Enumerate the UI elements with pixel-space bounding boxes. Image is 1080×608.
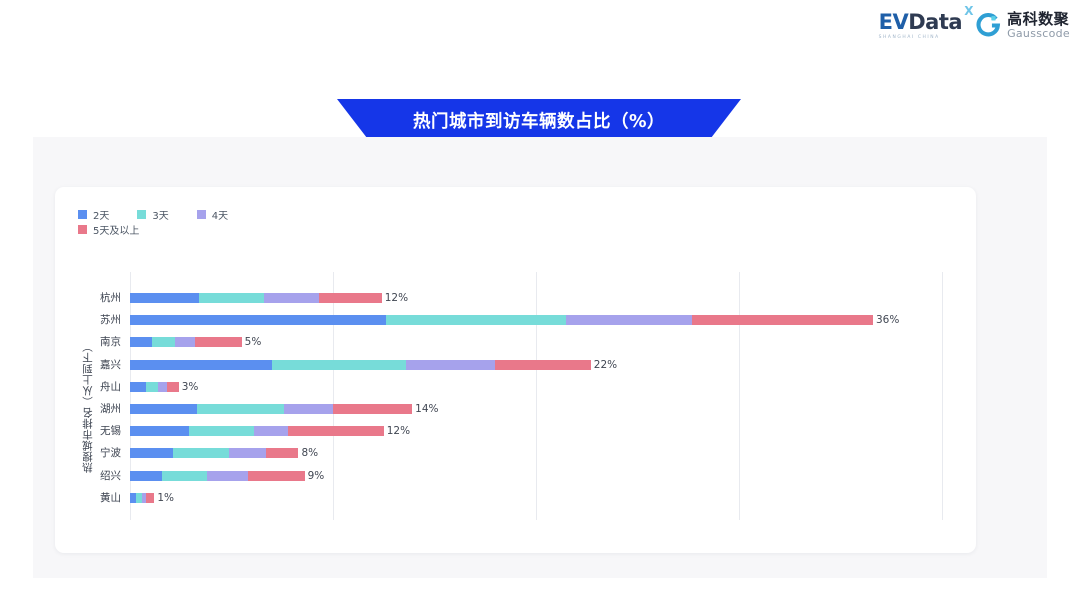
category-label: 无锡 (100, 420, 121, 442)
evdata-ev-text: EV (879, 10, 909, 34)
bar-segment-4[interactable] (333, 404, 412, 414)
bar-segment-4[interactable] (146, 493, 154, 503)
bar-segment-1[interactable] (130, 315, 386, 325)
bar-segment-2[interactable] (152, 337, 174, 347)
gausscode-text: 高科数聚 Gausscode (1007, 12, 1070, 39)
bar-segment-3[interactable] (284, 404, 333, 414)
bar-segment-4[interactable] (195, 337, 242, 347)
bar-segment-4[interactable] (319, 293, 382, 303)
bar-segment-1[interactable] (130, 448, 173, 458)
stacked-bar[interactable] (130, 315, 873, 325)
stacked-bar[interactable] (130, 448, 298, 458)
bar-segment-1[interactable] (130, 426, 189, 436)
chart-row: 宁波8% (130, 442, 942, 464)
legend-swatch-icon (78, 225, 87, 234)
evdata-logo: EVData X shanghai china (879, 12, 962, 40)
stacked-bar[interactable] (130, 293, 382, 303)
bar-segment-1[interactable] (130, 360, 272, 370)
category-label: 杭州 (100, 287, 121, 309)
legend-swatch-icon (137, 210, 146, 219)
category-label: 绍兴 (100, 465, 121, 487)
category-label: 宁波 (100, 442, 121, 464)
stacked-bar[interactable] (130, 337, 242, 347)
legend-label: 4天 (212, 207, 228, 222)
bar-segment-1[interactable] (130, 404, 197, 414)
bar-segment-4[interactable] (692, 315, 873, 325)
chart-row: 湖州14% (130, 398, 942, 420)
bar-segment-2[interactable] (146, 382, 158, 392)
bar-segment-1[interactable] (130, 293, 199, 303)
gridline (942, 272, 943, 520)
category-label: 舟山 (100, 376, 121, 398)
category-label: 南京 (100, 331, 121, 353)
category-label: 嘉兴 (100, 354, 121, 376)
y-axis-title: 热搜城市排名（从上到下） (79, 317, 95, 497)
evdata-x-superscript-icon: X (964, 5, 973, 17)
bar-segment-4[interactable] (495, 360, 590, 370)
bar-segment-3[interactable] (207, 471, 248, 481)
bar-segment-3[interactable] (175, 337, 195, 347)
bar-value-label: 14% (412, 398, 438, 420)
chart-row: 嘉兴22% (130, 354, 942, 376)
y-axis-title-text: 热搜城市排名（从上到下） (80, 341, 95, 473)
legend-label: 2天 (93, 207, 109, 222)
title-ribbon: 热门城市到访车辆数占比（%） (337, 99, 741, 141)
gausscode-en-name: Gausscode (1007, 28, 1070, 40)
bar-value-label: 9% (305, 465, 325, 487)
stacked-bar[interactable] (130, 493, 154, 503)
bar-value-label: 12% (382, 287, 408, 309)
legend-item-4[interactable]: 5天及以上 (78, 222, 139, 237)
legend-item-3[interactable]: 4天 (197, 207, 228, 222)
legend-item-2[interactable]: 3天 (137, 207, 168, 222)
bar-segment-4[interactable] (167, 382, 179, 392)
gausscode-cn-name: 高科数聚 (1007, 12, 1070, 28)
bar-segment-1[interactable] (130, 471, 162, 481)
bar-value-label: 12% (384, 420, 410, 442)
bar-segment-3[interactable] (566, 315, 692, 325)
legend-label: 3天 (152, 207, 168, 222)
bar-segment-3[interactable] (254, 426, 289, 436)
bar-segment-3[interactable] (158, 382, 166, 392)
legend-item-1[interactable]: 2天 (78, 207, 109, 222)
bar-value-label: 5% (242, 331, 262, 353)
bar-segment-2[interactable] (162, 471, 207, 481)
evdata-tagline: shanghai china (879, 35, 940, 40)
bar-segment-2[interactable] (173, 448, 230, 458)
bar-value-label: 3% (179, 376, 199, 398)
stacked-bar[interactable] (130, 404, 412, 414)
bar-segment-4[interactable] (248, 471, 305, 481)
bar-segment-4[interactable] (266, 448, 298, 458)
bar-segment-1[interactable] (130, 382, 146, 392)
bar-segment-3[interactable] (406, 360, 495, 370)
stacked-bar[interactable] (130, 382, 179, 392)
bar-segment-3[interactable] (229, 448, 266, 458)
bar-segment-2[interactable] (199, 293, 264, 303)
chart-legend: 2天3天4天5天及以上 (78, 207, 378, 237)
category-label: 苏州 (100, 309, 121, 331)
bar-segment-2[interactable] (272, 360, 406, 370)
plot-area: 杭州12%苏州36%南京5%嘉兴22%舟山3%湖州14%无锡12%宁波8%绍兴9… (130, 287, 942, 510)
title-ribbon-shape: 热门城市到访车辆数占比（%） (337, 99, 741, 141)
chart-row: 苏州36% (130, 309, 942, 331)
chart-row: 杭州12% (130, 287, 942, 309)
legend-swatch-icon (78, 210, 87, 219)
stacked-bar[interactable] (130, 360, 591, 370)
gausscode-g-mark-icon (976, 13, 1001, 38)
gausscode-logo: 高科数聚 Gausscode (976, 12, 1070, 39)
bar-value-label: 1% (154, 487, 174, 509)
category-label: 黄山 (100, 487, 121, 509)
stacked-bar[interactable] (130, 426, 384, 436)
slide-page: EVData X shanghai china 高科数聚 Gausscode 热… (0, 0, 1080, 608)
bar-segment-2[interactable] (386, 315, 567, 325)
chart-row: 南京5% (130, 331, 942, 353)
chart-row: 黄山1% (130, 487, 942, 509)
bar-value-label: 8% (298, 442, 318, 464)
legend-swatch-icon (197, 210, 206, 219)
evdata-wordmark: EVData X (879, 12, 962, 33)
chart-row: 无锡12% (130, 420, 942, 442)
stacked-bar[interactable] (130, 471, 305, 481)
category-label: 湖州 (100, 398, 121, 420)
bar-segment-1[interactable] (130, 337, 152, 347)
chart-row: 绍兴9% (130, 465, 942, 487)
bar-segment-2[interactable] (197, 404, 284, 414)
legend-label: 5天及以上 (93, 222, 139, 237)
chart-card: 2天3天4天5天及以上 热搜城市排名（从上到下） 杭州12%苏州36%南京5%嘉… (55, 187, 976, 553)
bar-value-label: 36% (873, 309, 899, 331)
brand-row: EVData X shanghai china 高科数聚 Gausscode (879, 12, 1070, 40)
chart-row: 舟山3% (130, 376, 942, 398)
bar-segment-4[interactable] (288, 426, 383, 436)
bar-value-label: 22% (591, 354, 617, 376)
evdata-data-text: Data (908, 10, 962, 34)
bar-segment-3[interactable] (264, 293, 319, 303)
bar-segment-2[interactable] (189, 426, 254, 436)
page-title: 热门城市到访车辆数占比（%） (413, 108, 665, 133)
